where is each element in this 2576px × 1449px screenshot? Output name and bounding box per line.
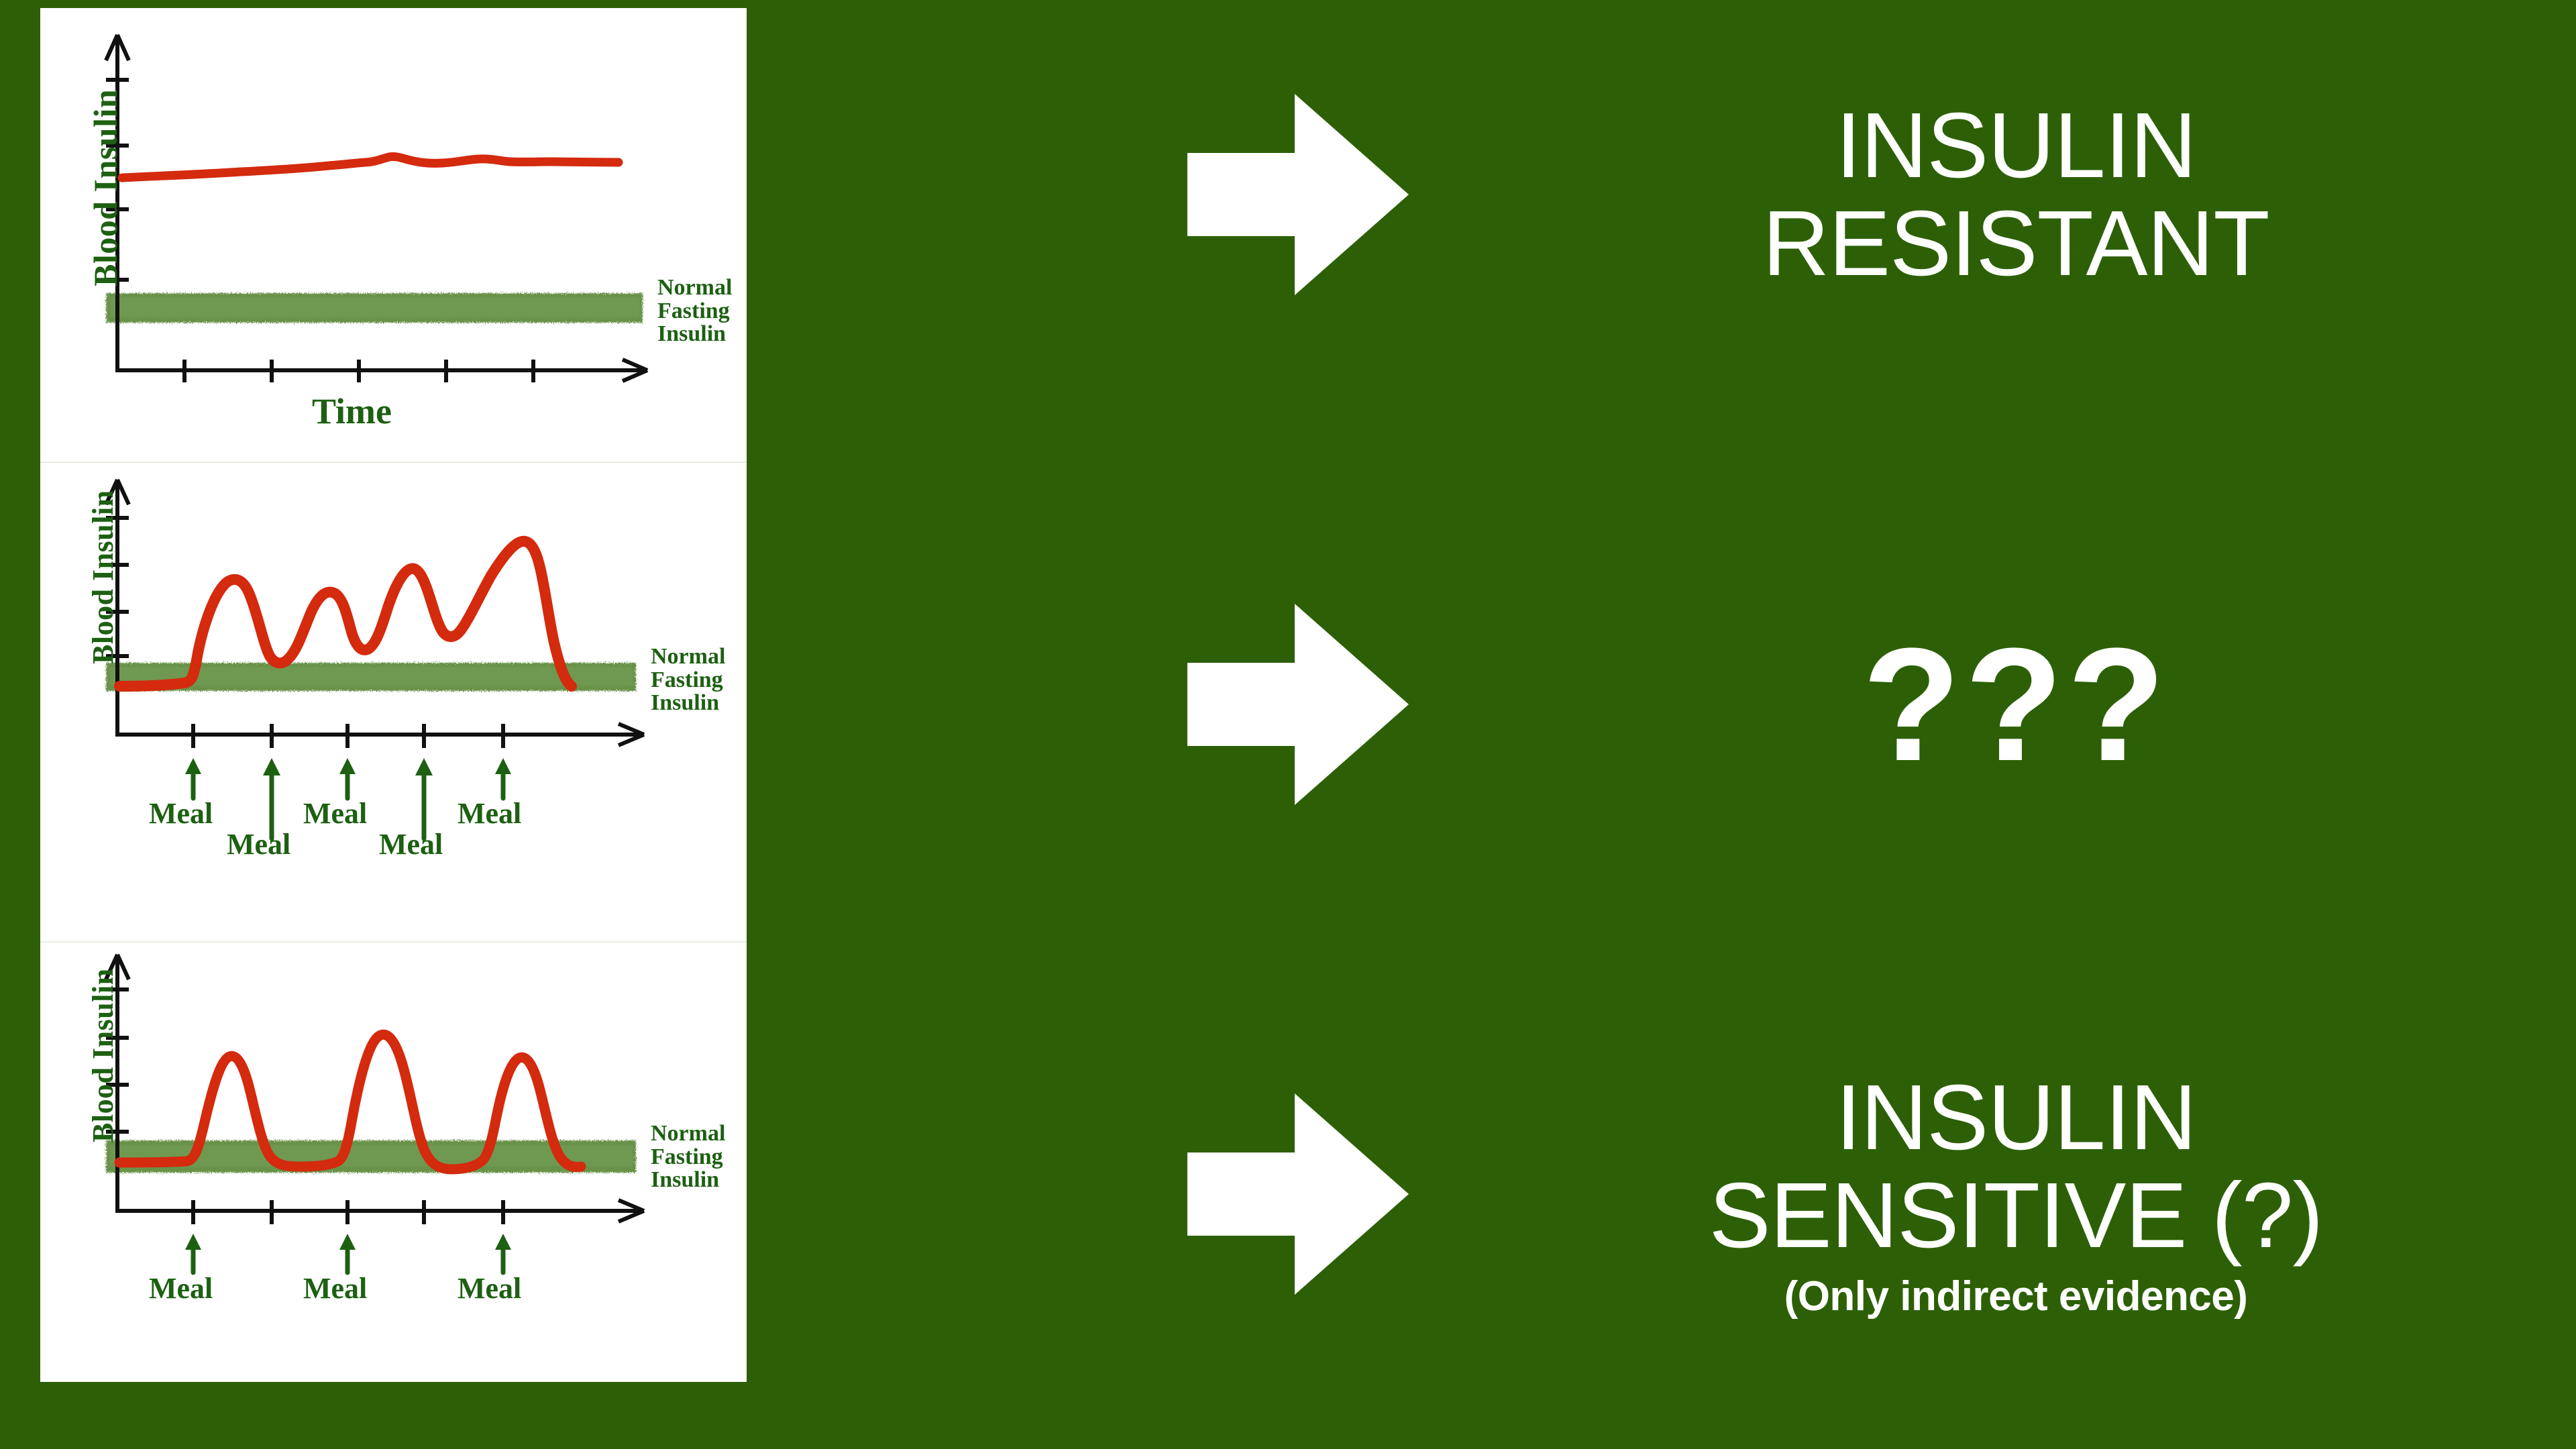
chart-2-plot	[40, 463, 747, 936]
arrow-cell-2	[1140, 604, 1456, 805]
meal-label-4: Meal	[379, 827, 443, 861]
meal-arrows	[185, 1234, 511, 1273]
chart-1-normal-fasting-insulin-label: Normal Fasting Insulin	[657, 276, 732, 346]
chart-2-y-axis-label: Blood Insulin	[86, 490, 120, 664]
text-cell-2: ???	[1456, 624, 2576, 785]
normal-fasting-band	[106, 293, 643, 323]
nfi-line-2: Fasting	[657, 300, 732, 323]
meal-arrow-1	[185, 1234, 201, 1273]
right-arrow-icon	[1187, 1093, 1409, 1295]
chart-1-y-axis-label: Blood Insulin	[86, 89, 125, 286]
arrow-cell-3	[1140, 1093, 1456, 1295]
conclusion-row-unknown: ???	[1140, 530, 2576, 879]
meal-arrow-2	[263, 758, 280, 839]
nfi-line-1: Normal	[651, 1122, 725, 1146]
chart-2-normal-fasting-insulin-label: Normal Fasting Insulin	[651, 645, 725, 715]
meal-arrow-1	[185, 758, 201, 798]
arrow-cell-1	[1140, 94, 1456, 295]
nfi-line-3: Insulin	[651, 692, 725, 715]
chart-3-normal-fasting-insulin-label: Normal Fasting Insulin	[651, 1122, 725, 1192]
conclusion-line-2: RESISTANT	[1762, 195, 2269, 292]
nfi-line-2: Fasting	[651, 1146, 725, 1169]
conclusion-line-1: INSULIN	[1835, 97, 2196, 195]
conclusion-subtext: (Only indirect evidence)	[1784, 1274, 2248, 1320]
chart-insulin-sensitive: Blood Insulin Normal Fasting Insulin Mea…	[40, 943, 747, 1382]
nfi-line-3: Insulin	[651, 1169, 725, 1192]
right-arrow-icon	[1187, 94, 1409, 295]
question-marks: ???	[1862, 624, 2169, 785]
meal-label-1: Meal	[149, 1271, 213, 1305]
chart-3-plot	[40, 943, 747, 1382]
insulin-curve	[122, 156, 619, 178]
chart-frequent-meals: Blood Insulin Normal Fasting Insulin Mea…	[40, 463, 747, 936]
nfi-line-2: Fasting	[651, 669, 725, 692]
right-arrow-icon	[1187, 604, 1409, 805]
meal-arrow-2	[339, 1234, 356, 1273]
text-cell-1: INSULIN RESISTANT	[1456, 97, 2576, 293]
x-axis	[115, 360, 647, 382]
meal-label-5: Meal	[458, 796, 521, 830]
conclusion-row-insulin-resistant: INSULIN RESISTANT	[1140, 20, 2576, 369]
meal-arrow-4	[415, 758, 433, 839]
text-cell-3: INSULIN SENSITIVE (?) (Only indirect evi…	[1456, 1069, 2576, 1320]
nfi-line-1: Normal	[651, 645, 725, 669]
chart-insulin-resistant: Blood Insulin Time Normal Fasting Insuli…	[40, 8, 747, 463]
chart-1-x-axis-label: Time	[312, 390, 392, 432]
nfi-line-3: Insulin	[657, 323, 732, 346]
nfi-line-1: Normal	[657, 276, 732, 300]
x-axis	[115, 724, 644, 748]
insulin-figure-panel: Blood Insulin Time Normal Fasting Insuli…	[40, 8, 747, 1382]
conclusion-row-insulin-sensitive: INSULIN SENSITIVE (?) (Only indirect evi…	[1140, 986, 2576, 1402]
meal-label-3: Meal	[458, 1271, 521, 1305]
meal-label-3: Meal	[303, 796, 367, 830]
conclusion-line-1: INSULIN	[1835, 1069, 2196, 1167]
meal-label-2: Meal	[227, 827, 290, 861]
meal-label-1: Meal	[149, 796, 213, 830]
meal-arrow-3	[495, 1234, 511, 1273]
x-axis	[115, 1200, 644, 1224]
conclusion-line-2: SENSITIVE (?)	[1709, 1167, 2323, 1265]
meal-arrow-5	[495, 758, 511, 798]
chart-1-plot	[40, 8, 747, 463]
chart-3-y-axis-label: Blood Insulin	[86, 968, 120, 1142]
meal-arrow-3	[339, 758, 356, 798]
meal-label-2: Meal	[303, 1271, 367, 1305]
